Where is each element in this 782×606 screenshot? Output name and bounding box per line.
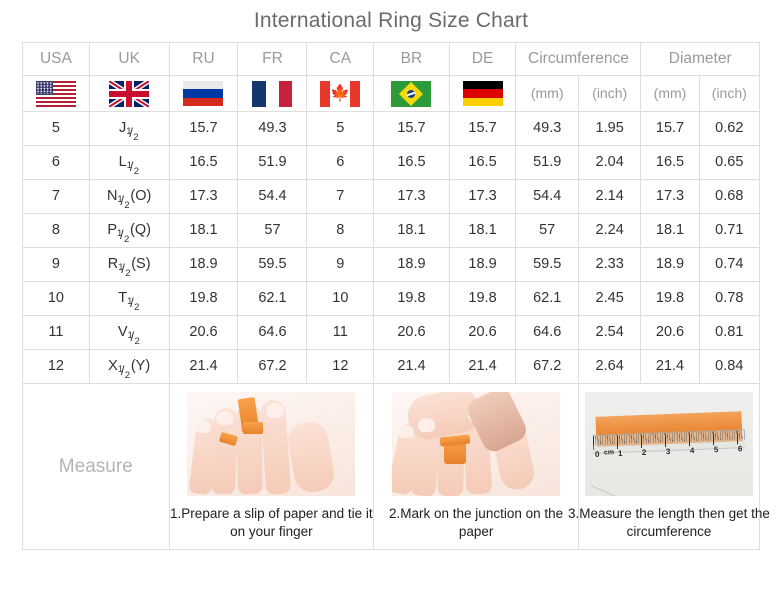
- cell-ru: 18.9: [169, 248, 238, 282]
- cell-dia-mm: 16.5: [641, 146, 699, 180]
- cell-circ-inch: 2.64: [578, 350, 640, 384]
- header-row-labels: USA UK RU FR CA BR DE Circumference Diam…: [23, 43, 760, 76]
- uk-size-letter: X: [108, 358, 118, 374]
- table-row: 10T1/219.862.11019.819.862.12.4519.80.78: [23, 282, 760, 316]
- cell-usa: 7: [23, 180, 90, 214]
- cell-uk: L1/2: [89, 146, 169, 180]
- cell-circ-mm: 57: [516, 214, 578, 248]
- cell-br: 16.5: [374, 146, 449, 180]
- unit-circumference-mm: (mm): [516, 76, 578, 112]
- uk-size-letter: T: [118, 290, 127, 306]
- cell-de: 17.3: [449, 180, 516, 214]
- uk-half-fraction: 1/2: [117, 188, 130, 202]
- flag-cell-ru: [169, 76, 238, 112]
- cell-ru: 20.6: [169, 316, 238, 350]
- cell-de: 21.4: [449, 350, 516, 384]
- uk-half-fraction: 1/2: [127, 324, 140, 338]
- cell-circ-mm: 54.4: [516, 180, 578, 214]
- cell-ru: 17.3: [169, 180, 238, 214]
- table-row: 11V1/220.664.61120.620.664.62.5420.60.81: [23, 316, 760, 350]
- cell-ca: 7: [307, 180, 374, 214]
- cell-dia-inch: 0.62: [699, 112, 759, 146]
- table-row: 8P1/2(Q)18.157818.118.1572.2418.10.71: [23, 214, 760, 248]
- uk-size-suffix: (Q): [130, 222, 151, 238]
- cell-fr: 49.3: [238, 112, 307, 146]
- cell-ca: 8: [307, 214, 374, 248]
- cell-circ-inch: 1.95: [578, 112, 640, 146]
- cell-de: 20.6: [449, 316, 516, 350]
- col-header-ru: RU: [169, 43, 238, 76]
- flag-cell-uk: [89, 76, 169, 112]
- ruler-measuring-paper-photo: 0 cm 1 2 3 4 5 6: [585, 392, 753, 496]
- hand-with-paper-strip-photo: [187, 392, 355, 496]
- ruler-tick-5: 5: [714, 445, 719, 454]
- cell-circ-mm: 49.3: [516, 112, 578, 146]
- uk-size-suffix: (O): [130, 188, 151, 204]
- ruler-tick-3: 3: [666, 447, 671, 456]
- cell-br: 20.6: [374, 316, 449, 350]
- uk-half-fraction: 1/2: [118, 358, 131, 372]
- uk-half-fraction: 1/2: [127, 290, 140, 304]
- measure-section: Measure: [23, 384, 760, 550]
- cell-ca: 11: [307, 316, 374, 350]
- measure-step-2-caption: 2.Mark on the junction on the paper: [371, 505, 581, 541]
- hand-marking-paper-photo: [392, 392, 560, 496]
- ring-size-chart-page: International Ring Size Chart USA UK RU …: [0, 0, 782, 606]
- cell-dia-mm: 21.4: [641, 350, 699, 384]
- cell-br: 18.9: [374, 248, 449, 282]
- ruler-unit-label: cm: [604, 449, 614, 456]
- cell-ru: 15.7: [169, 112, 238, 146]
- col-header-de: DE: [449, 43, 516, 76]
- cell-dia-inch: 0.84: [699, 350, 759, 384]
- cell-usa: 12: [23, 350, 90, 384]
- cell-dia-inch: 0.71: [699, 214, 759, 248]
- cell-dia-mm: 19.8: [641, 282, 699, 316]
- flag-cell-usa: [23, 76, 90, 112]
- table-head: USA UK RU FR CA BR DE Circumference Diam…: [23, 43, 760, 112]
- cell-fr: 67.2: [238, 350, 307, 384]
- uk-size-letter: L: [119, 154, 127, 170]
- flag-uk-icon: [109, 81, 149, 107]
- ruler-tick-1: 1: [618, 449, 623, 458]
- cell-dia-mm: 18.9: [641, 248, 699, 282]
- measure-step-1: 1.Prepare a slip of paper and tie it on …: [169, 384, 374, 550]
- cell-usa: 6: [23, 146, 90, 180]
- unit-circumference-inch: (inch): [578, 76, 640, 112]
- flag-france-icon: [252, 81, 292, 107]
- cell-ru: 19.8: [169, 282, 238, 316]
- cell-de: 15.7: [449, 112, 516, 146]
- cell-ca: 10: [307, 282, 374, 316]
- cell-uk: X1/2(Y): [89, 350, 169, 384]
- cell-fr: 57: [238, 214, 307, 248]
- page-title: International Ring Size Chart: [0, 0, 782, 42]
- cell-ru: 21.4: [169, 350, 238, 384]
- cell-br: 19.8: [374, 282, 449, 316]
- flag-usa-icon: [36, 81, 76, 107]
- cell-br: 21.4: [374, 350, 449, 384]
- cell-ca: 12: [307, 350, 374, 384]
- measure-label: Measure: [23, 384, 170, 550]
- table-row: 12X1/2(Y)21.467.21221.421.467.22.6421.40…: [23, 350, 760, 384]
- cell-fr: 59.5: [238, 248, 307, 282]
- uk-size-letter: P: [107, 222, 117, 238]
- measure-step-2: 2.Mark on the junction on the paper: [374, 384, 579, 550]
- ring-size-table: USA UK RU FR CA BR DE Circumference Diam…: [22, 42, 760, 550]
- cell-dia-mm: 18.1: [641, 214, 699, 248]
- cell-dia-inch: 0.65: [699, 146, 759, 180]
- cell-ca: 9: [307, 248, 374, 282]
- uk-size-letter: R: [108, 256, 118, 272]
- cell-ru: 18.1: [169, 214, 238, 248]
- col-header-circumference: Circumference: [516, 43, 641, 76]
- flag-cell-de: [449, 76, 516, 112]
- cell-usa: 5: [23, 112, 90, 146]
- ruler-tick-0: 0: [595, 450, 600, 459]
- flag-cell-fr: [238, 76, 307, 112]
- cell-circ-inch: 2.04: [578, 146, 640, 180]
- table-row: 6L1/216.551.9616.516.551.92.0416.50.65: [23, 146, 760, 180]
- col-header-uk: UK: [89, 43, 169, 76]
- cell-br: 17.3: [374, 180, 449, 214]
- cell-dia-inch: 0.68: [699, 180, 759, 214]
- flag-cell-br: [374, 76, 449, 112]
- unit-diameter-inch: (inch): [699, 76, 759, 112]
- cell-uk: V1/2: [89, 316, 169, 350]
- cell-fr: 62.1: [238, 282, 307, 316]
- cell-circ-mm: 62.1: [516, 282, 578, 316]
- cell-de: 16.5: [449, 146, 516, 180]
- uk-half-fraction: 1/2: [118, 256, 131, 270]
- cell-de: 18.1: [449, 214, 516, 248]
- uk-size-letter: N: [107, 188, 117, 204]
- cell-circ-mm: 51.9: [516, 146, 578, 180]
- cell-usa: 9: [23, 248, 90, 282]
- cell-usa: 10: [23, 282, 90, 316]
- cell-usa: 11: [23, 316, 90, 350]
- cell-dia-inch: 0.78: [699, 282, 759, 316]
- flag-russia-icon: [183, 81, 223, 107]
- cell-de: 18.9: [449, 248, 516, 282]
- cell-fr: 64.6: [238, 316, 307, 350]
- col-header-br: BR: [374, 43, 449, 76]
- cell-de: 19.8: [449, 282, 516, 316]
- ruler-tick-4: 4: [690, 446, 695, 455]
- cell-circ-mm: 64.6: [516, 316, 578, 350]
- col-header-diameter: Diameter: [641, 43, 760, 76]
- cell-dia-mm: 15.7: [641, 112, 699, 146]
- cell-circ-inch: 2.24: [578, 214, 640, 248]
- cell-circ-inch: 2.45: [578, 282, 640, 316]
- uk-size-letter: J: [119, 120, 126, 136]
- uk-half-fraction: 1/2: [127, 154, 140, 168]
- measure-step-1-caption: 1.Prepare a slip of paper and tie it on …: [166, 505, 376, 541]
- uk-size-suffix: (S): [131, 256, 150, 272]
- measure-step-3: 0 cm 1 2 3 4 5 6: [578, 384, 759, 550]
- cell-uk: N1/2(O): [89, 180, 169, 214]
- flag-brazil-icon: [391, 81, 431, 107]
- flag-cell-ca: 🍁: [307, 76, 374, 112]
- cell-ca: 5: [307, 112, 374, 146]
- cell-circ-inch: 2.33: [578, 248, 640, 282]
- flag-germany-icon: [463, 81, 503, 107]
- table-row: 9R1/2(S)18.959.5918.918.959.52.3318.90.7…: [23, 248, 760, 282]
- measure-step-3-caption: 3.Measure the length then get the circum…: [564, 505, 774, 541]
- cell-dia-inch: 0.74: [699, 248, 759, 282]
- cell-dia-mm: 17.3: [641, 180, 699, 214]
- cell-ca: 6: [307, 146, 374, 180]
- cell-circ-mm: 59.5: [516, 248, 578, 282]
- ruler-tick-2: 2: [642, 448, 647, 457]
- ruler-tick-6: 6: [738, 444, 743, 453]
- cell-circ-inch: 2.14: [578, 180, 640, 214]
- cell-ru: 16.5: [169, 146, 238, 180]
- cell-fr: 51.9: [238, 146, 307, 180]
- cell-dia-inch: 0.81: [699, 316, 759, 350]
- header-row-flags: 🍁 (mm) (inch) (mm): [23, 76, 760, 112]
- cell-uk: J1/2: [89, 112, 169, 146]
- uk-size-suffix: (Y): [131, 358, 150, 374]
- table-row: 5J1/215.749.3515.715.749.31.9515.70.62: [23, 112, 760, 146]
- uk-half-fraction: 1/2: [117, 222, 130, 236]
- cell-circ-mm: 67.2: [516, 350, 578, 384]
- cell-circ-inch: 2.54: [578, 316, 640, 350]
- uk-half-fraction: 1/2: [126, 120, 139, 134]
- col-header-ca: CA: [307, 43, 374, 76]
- flag-canada-icon: 🍁: [320, 81, 360, 107]
- cell-uk: T1/2: [89, 282, 169, 316]
- col-header-usa: USA: [23, 43, 90, 76]
- cell-br: 18.1: [374, 214, 449, 248]
- cell-dia-mm: 20.6: [641, 316, 699, 350]
- uk-size-letter: V: [118, 324, 128, 340]
- table-body: 5J1/215.749.3515.715.749.31.9515.70.626L…: [23, 112, 760, 384]
- cell-br: 15.7: [374, 112, 449, 146]
- cell-usa: 8: [23, 214, 90, 248]
- col-header-fr: FR: [238, 43, 307, 76]
- cell-fr: 54.4: [238, 180, 307, 214]
- measure-row: Measure: [23, 384, 760, 550]
- unit-diameter-mm: (mm): [641, 76, 699, 112]
- table-container: USA UK RU FR CA BR DE Circumference Diam…: [22, 42, 760, 550]
